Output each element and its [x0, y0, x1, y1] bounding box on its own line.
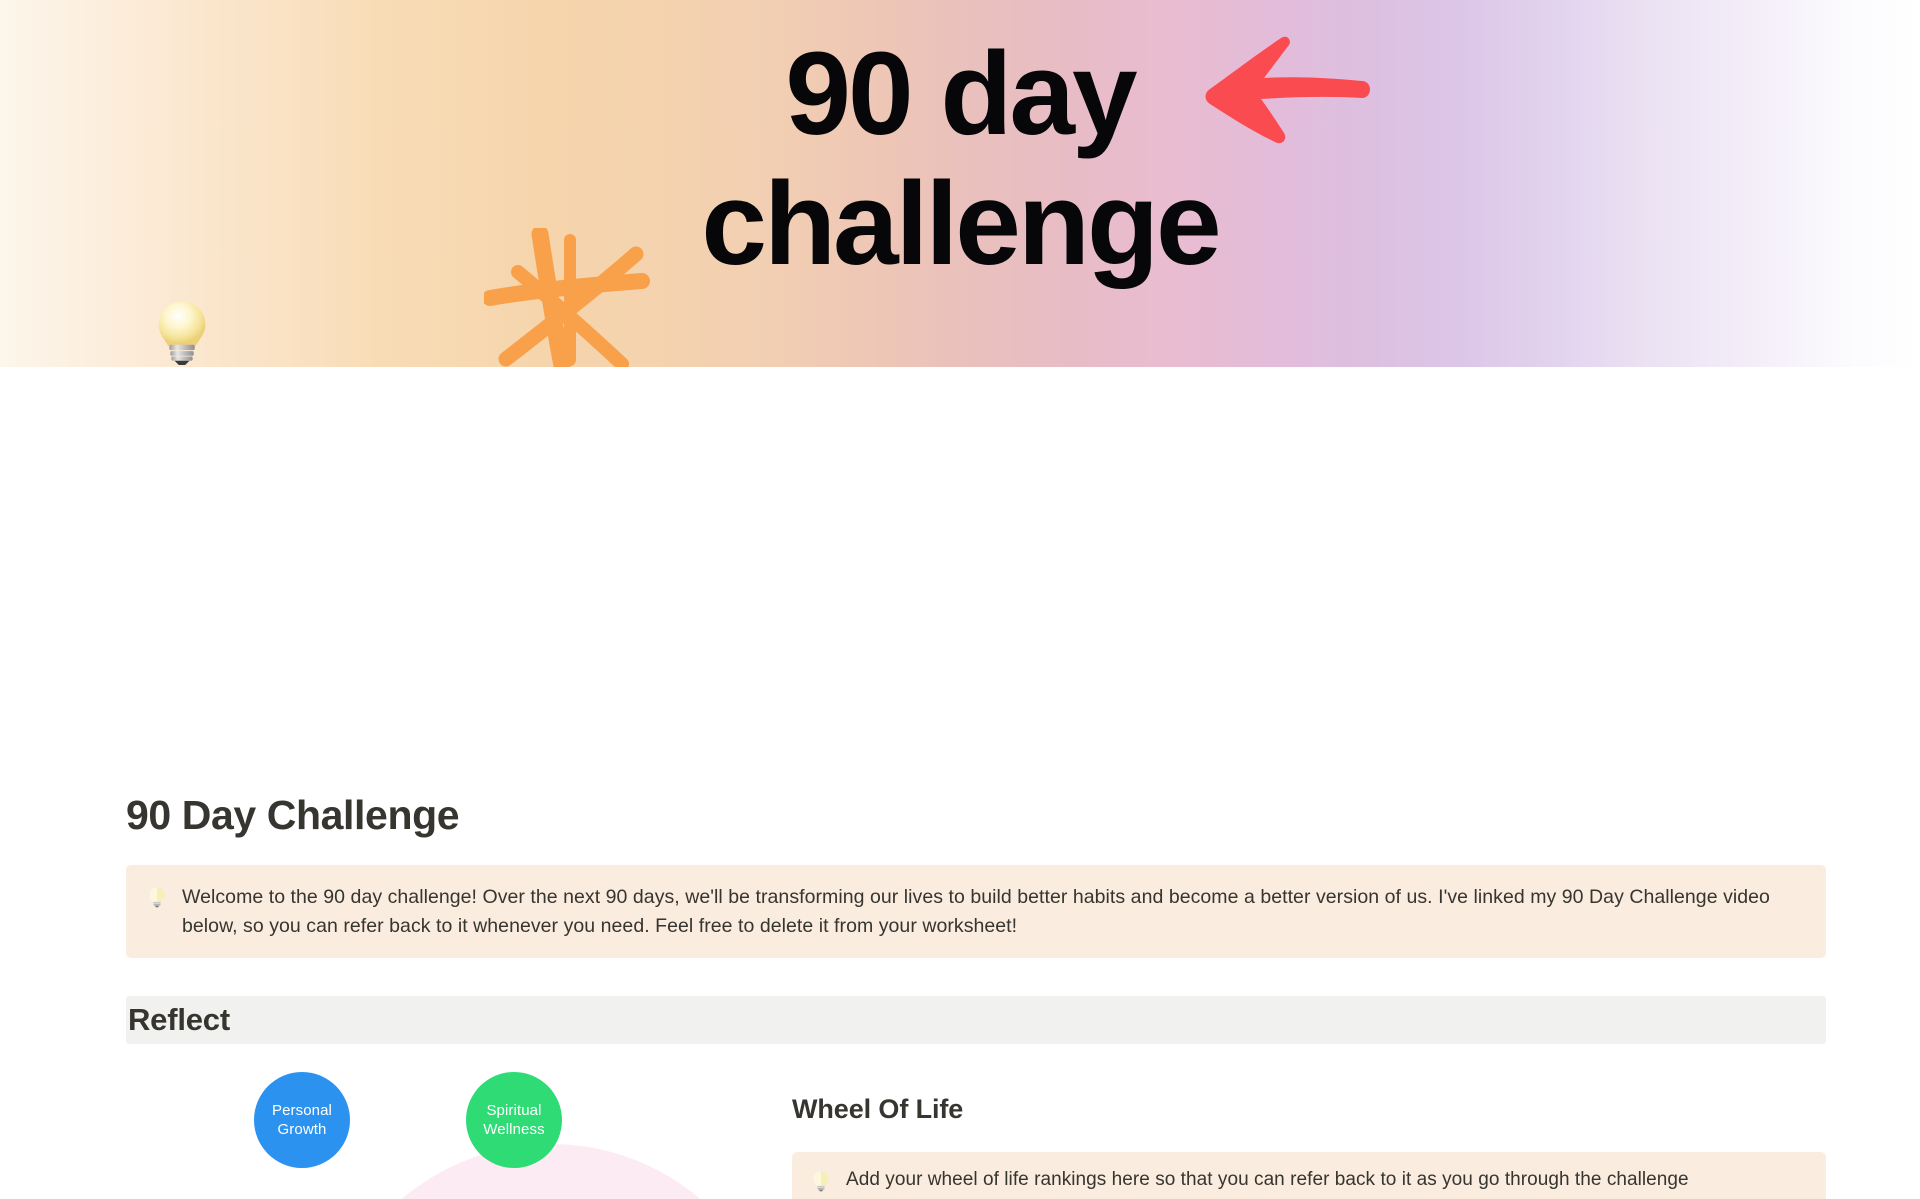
section-heading-reflect: Reflect — [126, 996, 1826, 1044]
welcome-callout-text: Welcome to the 90 day challenge! Over th… — [182, 883, 1804, 940]
page-title: 90 Day Challenge — [126, 792, 459, 839]
welcome-callout: Welcome to the 90 day challenge! Over th… — [126, 865, 1826, 958]
light-bulb-icon — [146, 884, 168, 910]
banner-title-line2: challenge — [0, 156, 1920, 292]
wheel-node-spiritual-wellness[interactable]: Spiritual Wellness — [466, 1072, 562, 1168]
wheel-node-label-line1: Spiritual — [483, 1101, 544, 1120]
wheel-node-label-line1: Personal — [272, 1101, 332, 1120]
banner-title-line1: 90 day — [785, 28, 1134, 160]
light-bulb-icon — [810, 1168, 832, 1194]
wheel-of-life-heading: Wheel Of Life — [792, 1094, 963, 1125]
wheel-of-life-diagram: Personal Growth Spiritual Wellness Caree… — [126, 1072, 766, 1199]
wheel-node-personal-growth[interactable]: Personal Growth — [254, 1072, 350, 1168]
wheel-of-life-callout-text: Add your wheel of life rankings here so … — [846, 1167, 1689, 1193]
page-cover-banner: 90 day challenge — [0, 0, 1920, 367]
wheel-node-label-line2: Wellness — [483, 1120, 544, 1139]
wheel-of-life-callout: Add your wheel of life rankings here so … — [792, 1152, 1826, 1199]
arrow-left-icon — [1190, 34, 1370, 144]
section-heading-label: Reflect — [128, 1002, 230, 1038]
wheel-node-label-line2: Growth — [272, 1120, 332, 1139]
light-bulb-icon — [148, 298, 216, 366]
banner-title: 90 day challenge — [0, 26, 1920, 292]
wheel-disc — [321, 1144, 781, 1199]
